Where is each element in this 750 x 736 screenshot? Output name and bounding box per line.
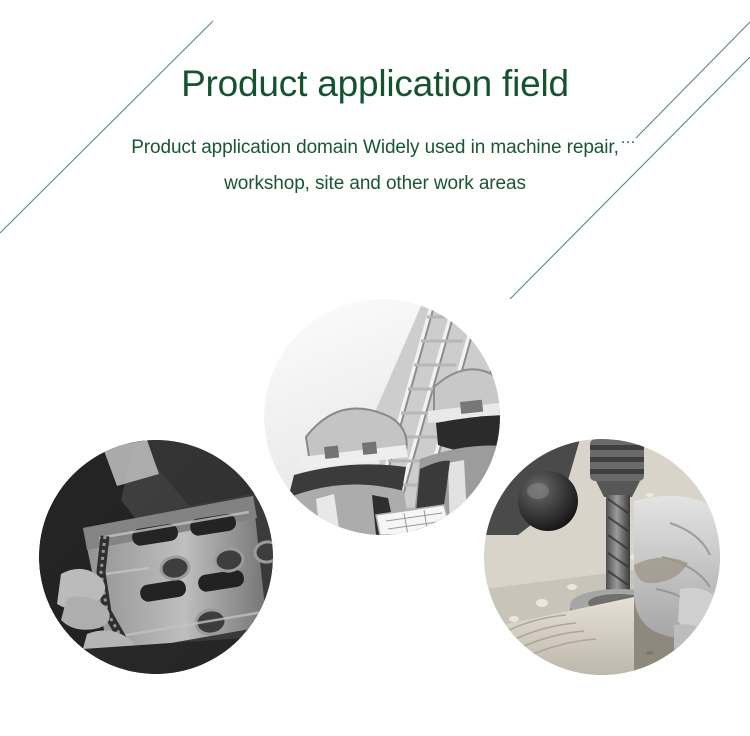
construction-workers-photo — [264, 299, 500, 535]
engine-repair-photo — [39, 440, 273, 674]
product-application-field-page: Product application field Product applic… — [0, 0, 750, 736]
photo-circle-engine-repair — [39, 440, 273, 674]
subtitle-block: Product application domain Widely used i… — [0, 130, 750, 202]
header-block: Product application field Product applic… — [0, 62, 750, 202]
photo-circle-drilling-wood — [484, 439, 720, 675]
subtitle-text-1: Product application domain Widely used i… — [131, 130, 619, 166]
subtitle-ellipsis: ... — [621, 121, 636, 157]
subtitle-row-1: Product application domain Widely used i… — [0, 130, 750, 166]
page-title: Product application field — [0, 62, 750, 106]
subtitle-row-2: workshop, site and other work areas — [0, 166, 750, 202]
photo-circle-construction-workers — [264, 299, 500, 535]
drilling-wood-photo — [484, 439, 720, 675]
subtitle-line-1-text: Product application domain Widely used i… — [131, 137, 619, 158]
